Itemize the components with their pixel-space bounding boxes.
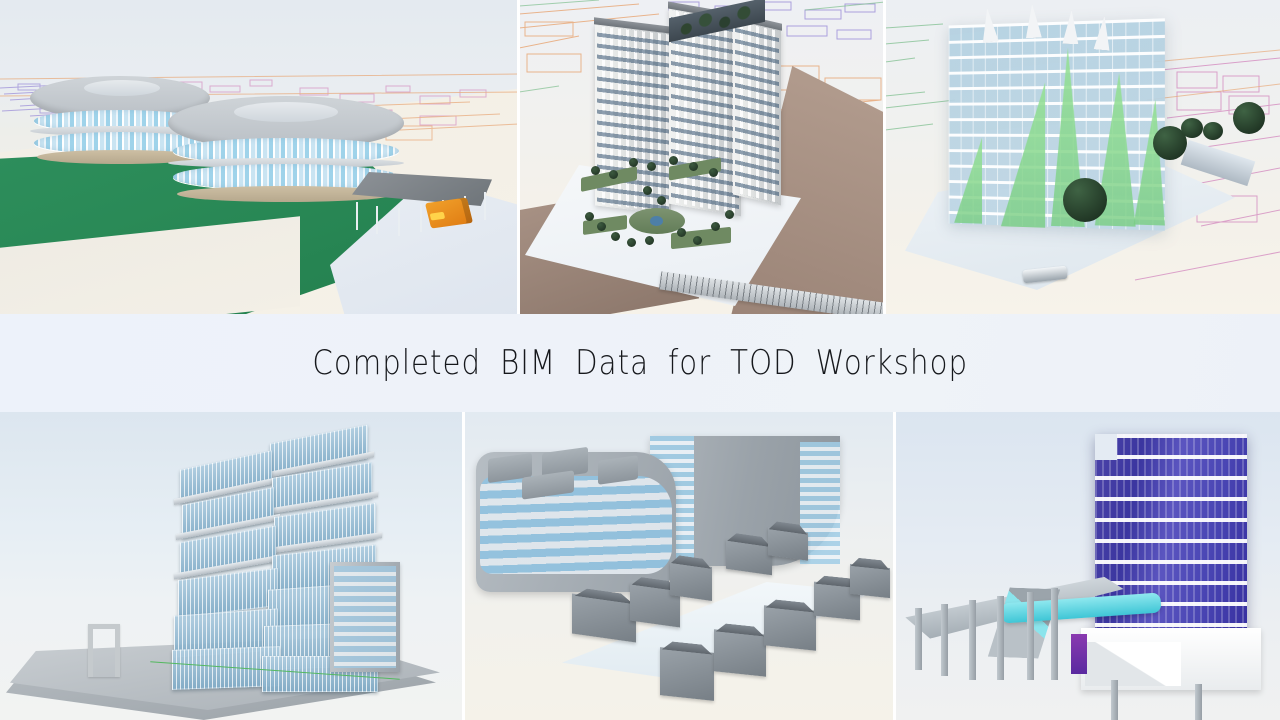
shophouse bbox=[670, 561, 712, 601]
residential-tower-right bbox=[733, 18, 781, 205]
tower-window-grid bbox=[735, 21, 779, 203]
tower-window-grid bbox=[671, 10, 739, 214]
presentation-slide: Completed BIM Data for TOD Workshop bbox=[0, 0, 1280, 720]
bim-panel-circular-civic-buildings[interactable] bbox=[0, 0, 519, 314]
shophouse bbox=[572, 594, 636, 643]
shophouse bbox=[850, 564, 890, 598]
shophouse bbox=[768, 527, 808, 561]
support-column bbox=[969, 600, 976, 680]
bim-panel-purple-tower-skywalk[interactable] bbox=[895, 412, 1280, 720]
panel-seam bbox=[462, 412, 465, 720]
white-podium bbox=[1081, 628, 1261, 690]
panel-1-scene bbox=[0, 0, 519, 314]
street-tree bbox=[1203, 122, 1223, 140]
roof-oculus bbox=[84, 80, 160, 96]
glass-curtain-wall-block bbox=[949, 18, 1165, 230]
support-column bbox=[941, 604, 948, 676]
support-column bbox=[1051, 588, 1058, 680]
bim-panel-stacked-glass-tower[interactable] bbox=[0, 412, 464, 720]
panel-4-scene bbox=[0, 412, 464, 720]
bim-panel-green-wall-glass-block[interactable] bbox=[885, 0, 1280, 314]
panel-5-scene bbox=[464, 412, 895, 720]
street-tree bbox=[1233, 102, 1265, 134]
shophouse bbox=[660, 647, 714, 701]
page-title: Completed BIM Data for TOD Workshop bbox=[312, 346, 968, 380]
panel-2-scene bbox=[519, 0, 885, 314]
panel-6-scene bbox=[895, 412, 1280, 720]
support-column bbox=[1195, 684, 1202, 720]
support-column bbox=[1027, 592, 1034, 680]
podium-glass-panel bbox=[1071, 634, 1087, 674]
panel-seam bbox=[517, 0, 520, 314]
shophouse bbox=[764, 605, 816, 650]
support-column bbox=[997, 596, 1004, 680]
facade-glazing-bands bbox=[480, 476, 672, 574]
title-band: Completed BIM Data for TOD Workshop bbox=[0, 314, 1280, 412]
panel-3-scene bbox=[885, 0, 1280, 314]
panel-seam bbox=[883, 0, 886, 314]
bim-panel-office-shophouse-canopy[interactable] bbox=[464, 412, 895, 720]
shophouse bbox=[726, 539, 772, 575]
tower-roof-notch bbox=[1095, 434, 1117, 460]
shophouse bbox=[714, 629, 766, 676]
roof-oculus bbox=[234, 102, 338, 122]
street-tree bbox=[1063, 178, 1107, 222]
support-column bbox=[915, 608, 922, 670]
side-annex-block bbox=[330, 562, 400, 672]
street-tree bbox=[1181, 118, 1203, 138]
bim-panel-residential-towers-plaza[interactable] bbox=[519, 0, 885, 314]
entry-gate-portal bbox=[88, 624, 120, 677]
panel-seam bbox=[893, 412, 896, 720]
podium-ramp bbox=[1085, 642, 1181, 686]
support-column bbox=[1111, 680, 1118, 720]
